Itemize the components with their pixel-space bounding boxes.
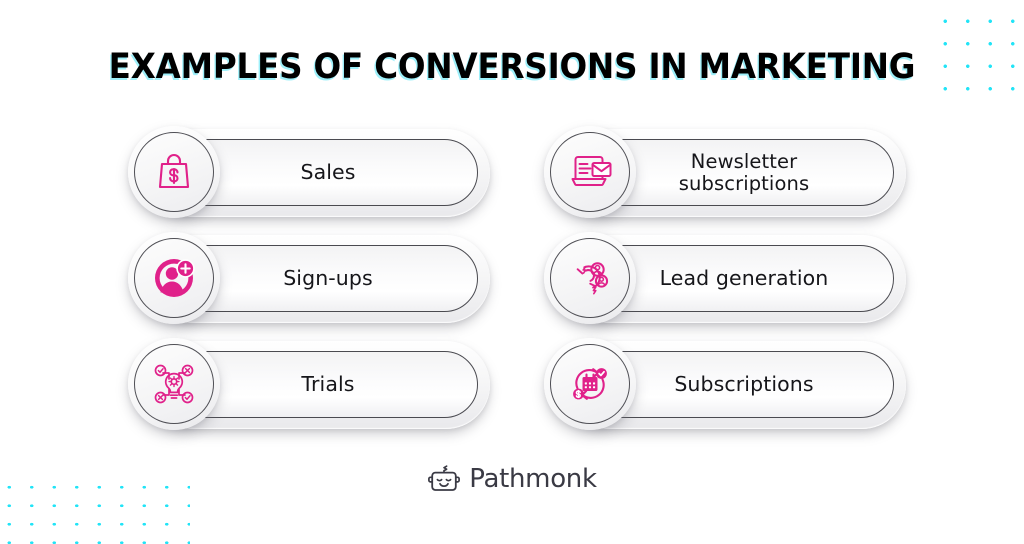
card-trials[interactable]: Trials [128,338,490,430]
card-sales[interactable]: Sales [128,126,490,218]
brand-logo: Pathmonk [0,462,1024,496]
card-label: Sign-ups [257,267,387,290]
card-grid: Sales Sign-ups [0,126,1024,438]
card-label: Lead generation [634,267,843,290]
card-subscriptions[interactable]: Subscriptions [544,338,906,430]
card-label: Trials [275,373,368,396]
card-icon-badge [544,126,636,218]
brand-name: Pathmonk [469,466,597,492]
user-plus-icon [134,238,214,318]
card-label: Subscriptions [648,373,827,396]
card-icon-badge [128,232,220,324]
card-lead-generation[interactable]: Lead generation [544,232,906,324]
robot-head-icon [427,462,461,496]
laptop-envelope-icon [550,132,630,212]
calendar-recurring-icon [550,344,630,424]
card-sign-ups[interactable]: Sign-ups [128,232,490,324]
card-icon-badge [544,232,636,324]
magnet-users-icon [550,238,630,318]
card-newsletter-subscriptions[interactable]: Newslettersubscriptions [544,126,906,218]
card-icon-badge [128,338,220,430]
lightbulb-gear-icon [134,344,214,424]
page-title: Examples of Conversions in Marketing [36,47,988,87]
card-label-line2: subscriptions [679,172,809,195]
card-label: Sales [274,161,369,184]
shopping-bag-dollar-icon [134,132,214,212]
card-label-line1: Newsletter [691,150,797,173]
card-icon-badge [128,126,220,218]
card-label: Newslettersubscriptions [653,151,823,195]
card-icon-badge [544,338,636,430]
